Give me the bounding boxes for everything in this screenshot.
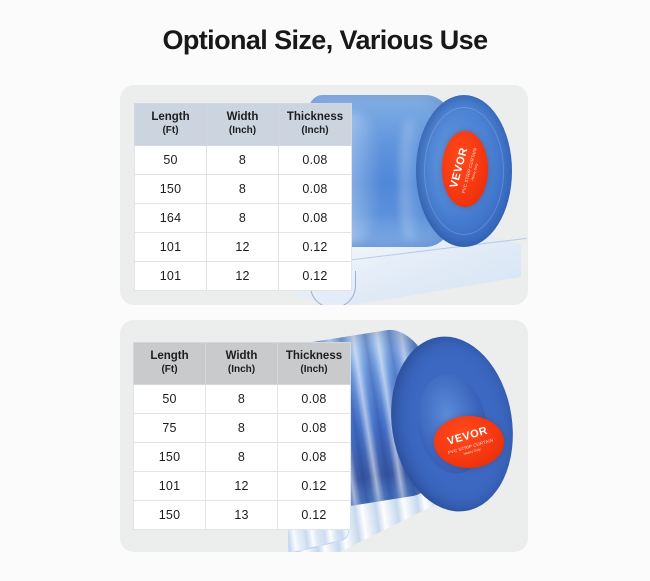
cell-thickness: 0.08	[279, 203, 352, 232]
table-2-header: Length (Ft) Width (Inch) Thickness (Inch…	[134, 343, 351, 385]
column-label: Width	[227, 111, 259, 123]
product-spec-page: Optional Size, Various Use Length (Ft) W…	[0, 0, 650, 581]
column-label: Width	[226, 350, 258, 362]
cell-thickness: 0.08	[278, 442, 351, 471]
cell-width: 8	[206, 413, 278, 442]
cell-length: 50	[135, 145, 207, 174]
label-content: VEVOR PVC STRIP CURTAIN Heavy Duty	[443, 424, 494, 459]
column-unit: (Inch)	[279, 125, 351, 138]
spec-card-1: Length (Ft) Width (Inch) Thickness (Inch…	[120, 85, 528, 305]
table-row: 150 8 0.08	[135, 174, 352, 203]
table-row: 164 8 0.08	[135, 203, 352, 232]
table-row: 50 8 0.08	[134, 384, 351, 413]
column-header-thickness: Thickness (Inch)	[279, 104, 352, 146]
cell-length: 75	[134, 413, 206, 442]
cell-width: 8	[207, 203, 279, 232]
vevor-brand-label: VEVOR PVC STRIP CURTAIN Heavy Duty	[442, 131, 488, 207]
cell-width: 12	[207, 232, 279, 261]
column-header-length: Length (Ft)	[135, 104, 207, 146]
table-row: 50 8 0.08	[135, 145, 352, 174]
cell-thickness: 0.08	[278, 384, 351, 413]
cell-thickness: 0.12	[279, 232, 352, 261]
cell-length: 150	[134, 442, 206, 471]
column-label: Length	[151, 111, 189, 123]
cell-thickness: 0.08	[279, 145, 352, 174]
table-row: Length (Ft) Width (Inch) Thickness (Inch…	[134, 343, 351, 385]
cell-thickness: 0.08	[278, 413, 351, 442]
spec-card-2: Length (Ft) Width (Inch) Thickness (Inch…	[120, 320, 528, 552]
column-header-thickness: Thickness (Inch)	[278, 343, 351, 385]
column-header-length: Length (Ft)	[134, 343, 206, 385]
cell-thickness: 0.12	[279, 261, 352, 290]
cell-length: 164	[135, 203, 207, 232]
cell-width: 8	[206, 384, 278, 413]
page-title: Optional Size, Various Use	[0, 25, 650, 56]
table-2-body: 50 8 0.08 75 8 0.08 150 8 0.08 101 12	[134, 384, 351, 529]
cell-width: 8	[206, 442, 278, 471]
table-row: 150 13 0.12	[134, 500, 351, 529]
table-row: 101 12 0.12	[134, 471, 351, 500]
column-label: Thickness	[287, 111, 343, 123]
cell-length: 101	[134, 471, 206, 500]
cell-length: 150	[135, 174, 207, 203]
column-header-width: Width (Inch)	[207, 104, 279, 146]
table-row: 150 8 0.08	[134, 442, 351, 471]
cell-length: 50	[134, 384, 206, 413]
label-content: VEVOR PVC STRIP CURTAIN Heavy Duty	[448, 143, 482, 194]
cell-thickness: 0.12	[278, 471, 351, 500]
column-unit: (Inch)	[206, 364, 277, 377]
cell-width: 12	[207, 261, 279, 290]
table-row: 75 8 0.08	[134, 413, 351, 442]
cell-thickness: 0.12	[278, 500, 351, 529]
cell-width: 8	[207, 145, 279, 174]
column-unit: (Inch)	[278, 364, 350, 377]
cell-width: 13	[206, 500, 278, 529]
spec-table-1: Length (Ft) Width (Inch) Thickness (Inch…	[134, 103, 352, 291]
column-header-width: Width (Inch)	[206, 343, 278, 385]
cell-length: 101	[135, 232, 207, 261]
table-row: 101 12 0.12	[135, 232, 352, 261]
cell-width: 12	[206, 471, 278, 500]
spec-table-2: Length (Ft) Width (Inch) Thickness (Inch…	[133, 342, 351, 530]
column-label: Thickness	[286, 350, 342, 362]
column-unit: (Ft)	[135, 125, 206, 138]
column-unit: (Inch)	[207, 125, 278, 138]
column-label: Length	[150, 350, 188, 362]
vevor-brand-label: VEVOR PVC STRIP CURTAIN Heavy Duty	[434, 416, 504, 468]
table-row: 101 12 0.12	[135, 261, 352, 290]
table-row: Length (Ft) Width (Inch) Thickness (Inch…	[135, 104, 352, 146]
column-unit: (Ft)	[134, 364, 205, 377]
cell-width: 8	[207, 174, 279, 203]
cell-length: 101	[135, 261, 207, 290]
cell-thickness: 0.08	[279, 174, 352, 203]
cell-length: 150	[134, 500, 206, 529]
table-1-body: 50 8 0.08 150 8 0.08 164 8 0.08 101 12	[135, 145, 352, 290]
table-1-header: Length (Ft) Width (Inch) Thickness (Inch…	[135, 104, 352, 146]
